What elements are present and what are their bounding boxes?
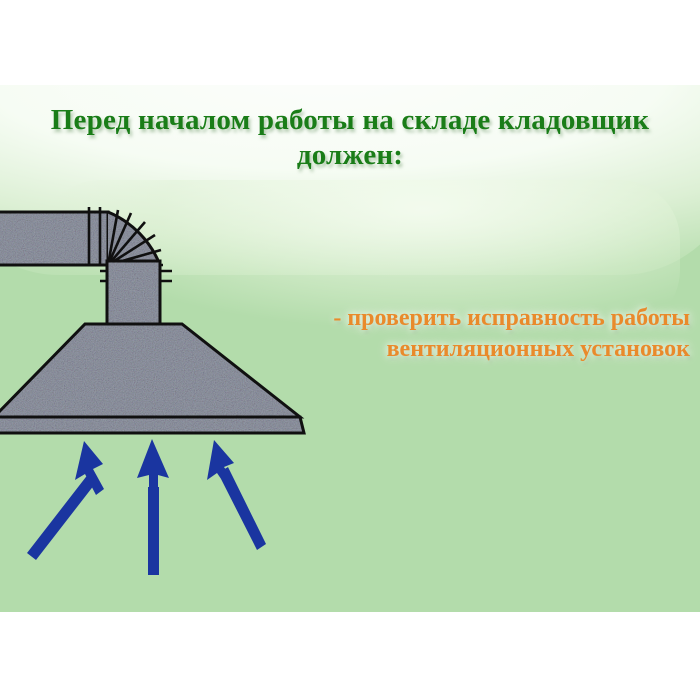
slide-heading: Перед началом работы на складе кладовщик…	[10, 103, 690, 173]
horizontal-duct-shape	[0, 212, 108, 265]
ventilation-hood-illustration	[0, 195, 330, 612]
airflow-arrow-right	[207, 440, 266, 550]
airflow-arrow-center	[137, 439, 169, 575]
hood-rim-shape	[0, 417, 304, 433]
airflow-arrow-left	[27, 441, 104, 560]
hood-canopy-shape	[0, 324, 300, 417]
vertical-duct-shape	[107, 261, 160, 324]
slide-bullet-text: - проверить исправность работы вентиляци…	[300, 303, 690, 365]
airflow-arrows	[27, 439, 266, 575]
slide-canvas: Перед началом работы на складе кладовщик…	[0, 85, 700, 612]
